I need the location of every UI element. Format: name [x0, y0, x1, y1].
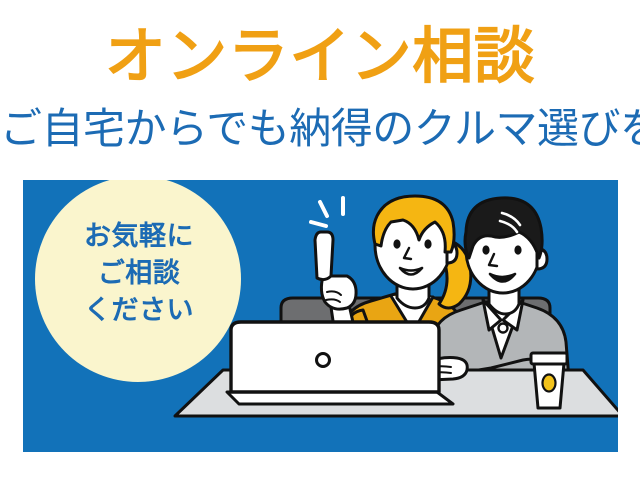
man-eye-right: [514, 245, 521, 254]
banner-root: オンライン相談 ご自宅からでも納得のクルマ選びを: [0, 0, 640, 480]
woman-eye-right: [424, 239, 431, 248]
man-shirt-button: [499, 324, 508, 333]
woman-eye-left: [393, 239, 400, 248]
page-title: オンライン相談: [0, 24, 640, 88]
laptop-base: [227, 392, 453, 404]
page-subtitle: ご自宅からでも納得のクルマ選びを: [0, 104, 640, 154]
header-block: オンライン相談 ご自宅からでも納得のクルマ選びを: [0, 0, 640, 172]
badge-circle: [35, 180, 241, 382]
man-eye-left: [482, 245, 489, 254]
coffee-cup-logo-icon: [543, 375, 556, 392]
laptop-logo-icon: [317, 354, 330, 367]
woman-index-finger: [315, 232, 333, 280]
illustration-panel: お気軽に ご相談 ください: [23, 180, 618, 452]
illustration-svg: [23, 180, 618, 452]
laptop-lid: [231, 322, 439, 392]
laptop: [227, 322, 453, 404]
coffee-cup-lid: [531, 353, 567, 364]
coffee-cup: [531, 353, 567, 408]
